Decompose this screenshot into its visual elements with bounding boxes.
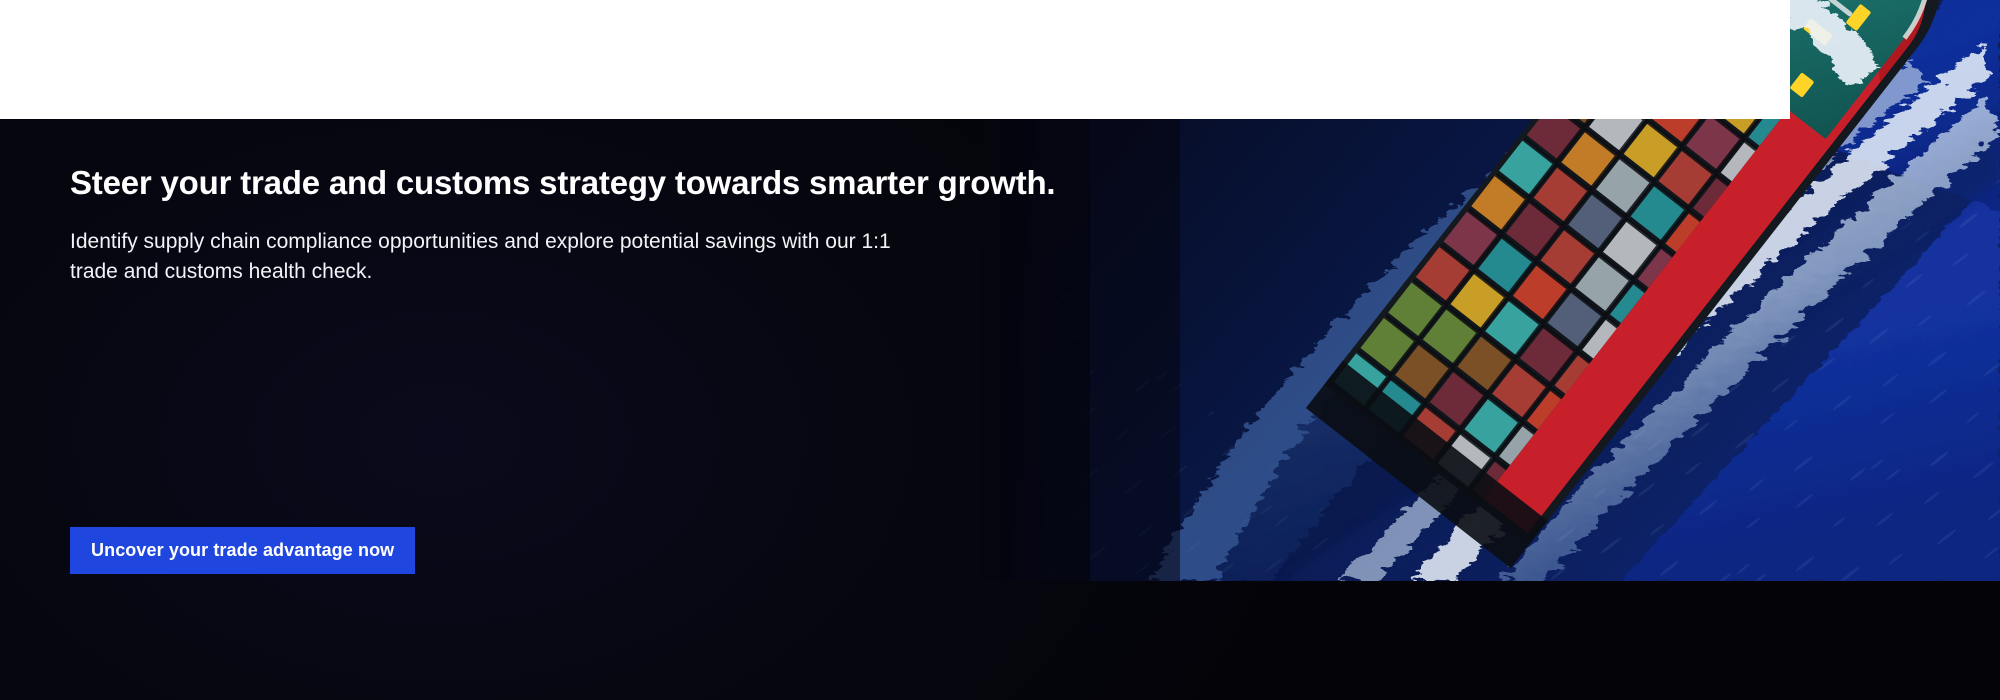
uncover-trade-advantage-button[interactable]: Uncover your trade advantage now (70, 527, 415, 574)
hero-subcopy: Identify supply chain compliance opportu… (70, 203, 900, 287)
page-title: Steer your trade and customs strategy to… (70, 163, 1130, 203)
hero-banner-stage: Steer your trade and customs strategy to… (0, 0, 2000, 700)
hero-copy-block: Steer your trade and customs strategy to… (70, 163, 1130, 287)
page-top-whitespace (0, 0, 1790, 119)
